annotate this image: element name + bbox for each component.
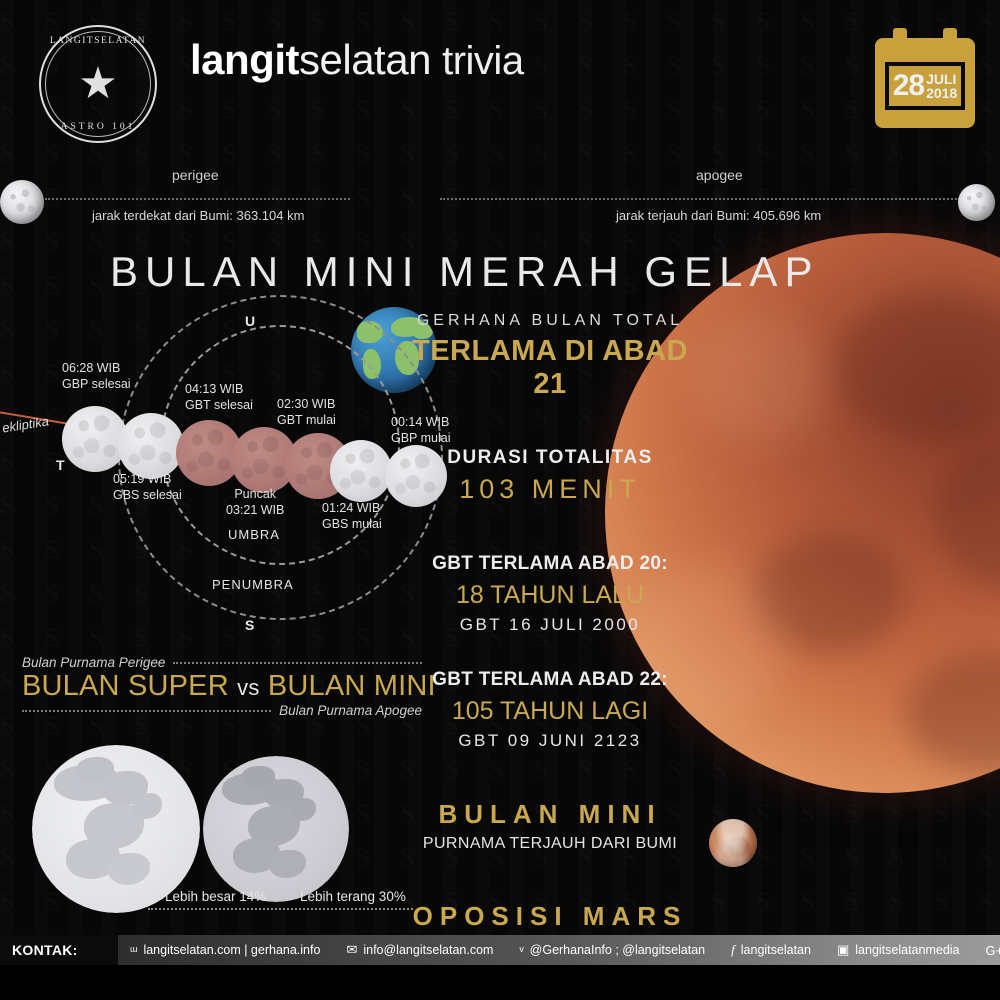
apogee-moon — [958, 184, 995, 221]
event-time: 02:30 WIB — [277, 397, 336, 413]
century22-value: 105 TAHUN LAGI — [400, 697, 700, 726]
minimoon-subtitle: PURNAMA TERJAUH DARI BUMI — [400, 835, 700, 853]
umbra-label: UMBRA — [228, 527, 280, 542]
facts-headline: TERLAMA DI ABAD 21 — [400, 335, 700, 401]
duration-label: DURASI TOTALITAS — [400, 447, 700, 469]
caption-dash-top — [173, 662, 422, 664]
apogee-label: apogee — [696, 167, 743, 183]
axis-label-north: U — [245, 313, 255, 329]
comparison-title: BULAN SUPER vs BULAN MINI — [22, 670, 422, 703]
wordmark-bold: langit — [190, 36, 299, 83]
supermoon-illustration — [32, 745, 200, 913]
century20-value: 18 TAHUN LALU — [400, 581, 700, 610]
event-gbt-mulai: 02:30 WIB GBT mulai — [277, 397, 336, 428]
envelope-icon: ✉ — [346, 942, 357, 958]
googleplus-icon: G+ — [986, 943, 1000, 958]
axis-label-south: S — [245, 617, 254, 633]
event-gbp-selesai: 06:28 WIB GBP selesai — [62, 361, 131, 392]
footer-item-text: info@langitselatan.com — [363, 943, 493, 957]
ecliptic-label: ekliptika — [1, 413, 50, 435]
page-title: BULAN MINI MERAH GELAP — [110, 248, 819, 296]
perigee-apogee-band: perigee jarak terdekat dari Bumi: 363.10… — [0, 152, 1000, 262]
footer-item-facebook[interactable]: f langitselatan — [731, 942, 811, 958]
minimoon-illustration — [203, 756, 349, 902]
minimoon-title: BULAN MINI — [400, 799, 700, 830]
footer-item-email[interactable]: ✉ info@langitselatan.com — [346, 942, 493, 958]
century22-label: GBT TERLAMA ABAD 22: — [400, 669, 700, 691]
apogee-detail: jarak terjauh dari Bumi: 405.696 km — [616, 208, 821, 223]
footer-item-website[interactable]: ᵚ langitselatan.com | gerhana.info — [130, 943, 320, 958]
calendar-month-year: JULI 2018 — [926, 72, 957, 100]
footer-item-text: langitselatanmedia — [855, 943, 959, 957]
axis-label-east: T — [56, 457, 65, 473]
event-time: 04:13 WIB — [185, 382, 253, 398]
facts-kicker: GERHANA BULAN TOTAL — [400, 312, 700, 330]
eclipse-facts-column: GERHANA BULAN TOTAL TERLAMA DI ABAD 21 D… — [400, 312, 700, 955]
moon-phase-6 — [330, 440, 392, 502]
footer-bottom-bar — [0, 965, 1000, 1000]
perigee-fullmoon-caption: Bulan Purnama Perigee — [22, 655, 165, 670]
penumbra-label: PENUMBRA — [212, 577, 294, 592]
langitselatan-logo: LANGITSELATAN ★ ASTRO 101 — [34, 20, 162, 148]
event-time: 05:19 WIB — [113, 472, 182, 488]
perigee-moon — [0, 180, 44, 224]
brand-wordmark: langitselatan trivia — [190, 36, 524, 84]
kontak-label: KONTAK: — [12, 942, 78, 958]
footer-item-text: langitselatan — [741, 943, 811, 957]
comparison-title-vs: vs — [237, 675, 259, 700]
stat-size: Lebih besar 14% — [165, 889, 266, 904]
mars-title: OPOSISI MARS — [400, 901, 700, 932]
wordmark-light: selatan — [299, 36, 431, 83]
instagram-icon: ▣ — [837, 942, 849, 958]
facebook-icon: f — [731, 942, 735, 958]
event-gbt-selesai: 04:13 WIB GBT selesai — [185, 382, 253, 413]
supermoon-vs-minimoon-block: Bulan Purnama Perigee BULAN SUPER vs BUL… — [22, 655, 422, 718]
event-time: 01:24 WIB — [322, 501, 382, 517]
event-gbs-mulai: 01:24 WIB GBS mulai — [322, 501, 382, 532]
century20-label: GBT TERLAMA ABAD 20: — [400, 553, 700, 575]
duration-value: 103 MENIT — [400, 474, 700, 505]
moon-phase-2 — [118, 413, 184, 479]
footer-item-twitter[interactable]: ᵛ @GerhanaInfo ; @langitselatan — [519, 943, 705, 958]
event-phase: GBT selesai — [185, 398, 253, 414]
apogee-dotted-line — [440, 198, 960, 200]
calendar-month: JULI — [926, 72, 957, 86]
footer-item-text: langitselatan.com | gerhana.info — [143, 943, 320, 957]
mars-planet-icon — [709, 819, 757, 867]
footer-item-googleplus[interactable]: G+ LangitselatanMedia — [986, 943, 1000, 958]
kontak-block: KONTAK: — [0, 935, 118, 965]
logo-top-text: LANGITSELATAN — [34, 36, 162, 46]
peak-label: Puncak — [226, 487, 284, 503]
twitter-icon: ᵛ — [519, 943, 523, 958]
logo-bottom-text: ASTRO 101 — [34, 122, 162, 132]
event-time: 06:28 WIB — [62, 361, 131, 377]
event-phase: GBT mulai — [277, 413, 336, 429]
footer-item-text: @GerhanaInfo ; @langitselatan — [530, 943, 705, 957]
perigee-dotted-line — [45, 198, 350, 200]
stats-dotted-line — [148, 908, 413, 910]
perigee-detail: jarak terdekat dari Bumi: 363.104 km — [92, 208, 304, 223]
rss-icon: ᵚ — [130, 943, 137, 958]
century20-date: GBT 16 JULI 2000 — [400, 615, 700, 635]
footer-item-instagram[interactable]: ▣ langitselatanmedia — [837, 942, 960, 958]
wordmark-trivia: trivia — [442, 39, 523, 83]
calendar-badge: 28 JULI 2018 — [875, 28, 975, 128]
caption-dash-bottom — [22, 710, 271, 712]
eclipse-peak: Puncak 03:21 WIB — [226, 487, 284, 518]
event-phase: GBP selesai — [62, 377, 131, 393]
calendar-year: 2018 — [926, 86, 957, 100]
footer-contact-items: ᵚ langitselatan.com | gerhana.info ✉ inf… — [130, 942, 1000, 958]
calendar-date-window: 28 JULI 2018 — [885, 62, 965, 110]
century22-date: GBT 09 JUNI 2123 — [400, 731, 700, 751]
event-phase: GBS mulai — [322, 517, 382, 533]
event-gbs-selesai: 05:19 WIB GBS selesai — [113, 472, 182, 503]
contact-footer: KONTAK: ᵚ langitselatan.com | gerhana.in… — [0, 935, 1000, 965]
calendar-day: 28 — [893, 71, 924, 101]
event-phase: GBS selesai — [113, 488, 182, 504]
horse-rider-icon: ★ — [78, 62, 117, 106]
peak-time: 03:21 WIB — [226, 503, 284, 519]
perigee-label: perigee — [172, 167, 219, 183]
stat-brightness: Lebih terang 30% — [300, 889, 406, 904]
comparison-title-left: BULAN SUPER — [22, 670, 229, 702]
